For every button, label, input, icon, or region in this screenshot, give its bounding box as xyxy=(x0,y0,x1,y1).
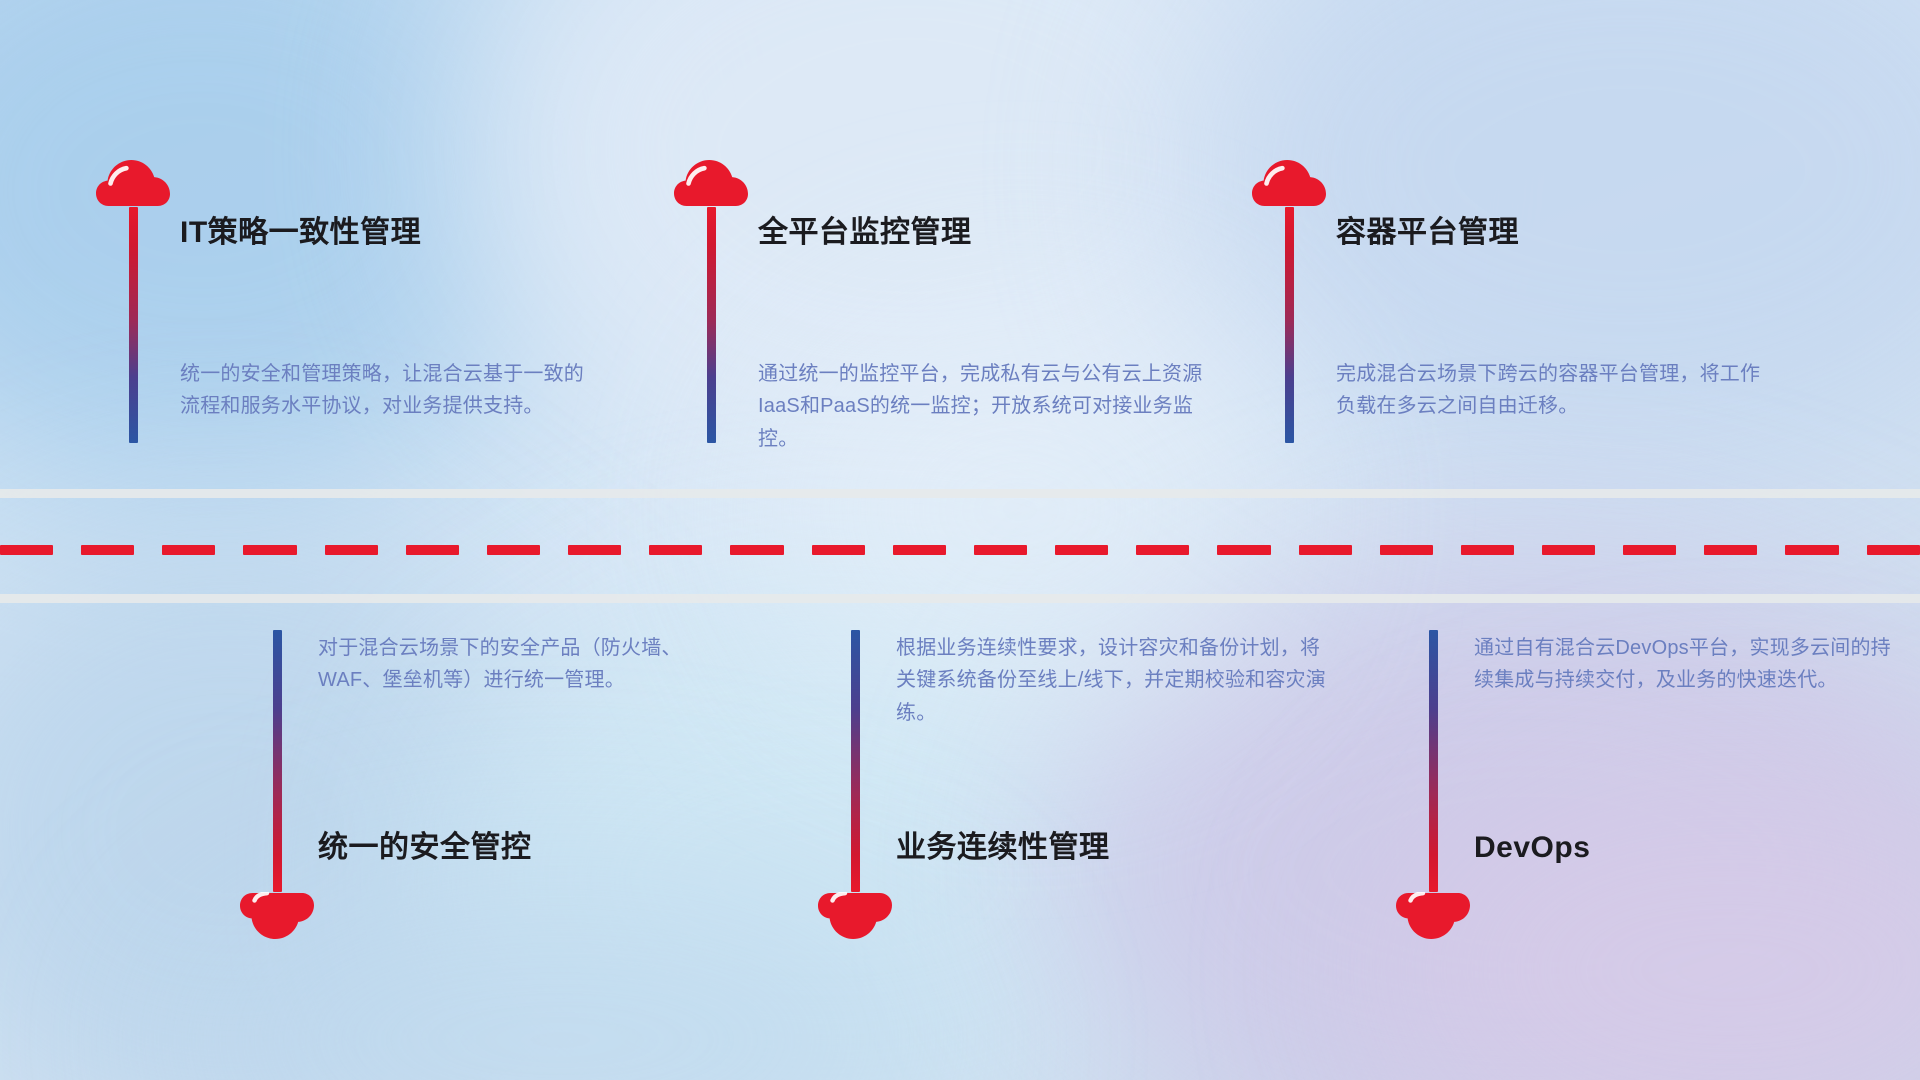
item-title: 全平台监控管理 xyxy=(758,215,972,251)
divider-rule-bottom xyxy=(0,594,1920,603)
cloud-pin-icon xyxy=(1396,892,1470,939)
cloud-pin-top-1 xyxy=(96,160,170,443)
cloud-pin-bottom-2 xyxy=(818,630,892,939)
cloud-pin-icon xyxy=(96,160,170,207)
cloud-pin-icon xyxy=(240,892,314,939)
item-body: 通过自有混合云DevOps平台，实现多云间的持续集成与持续交付，及业务的快速迭代… xyxy=(1474,632,1894,697)
divider-dash xyxy=(649,545,702,555)
divider-dash xyxy=(0,545,53,555)
divider-dash xyxy=(974,545,1027,555)
item-body: 统一的安全和管理策略，让混合云基于一致的流程和服务水平协议，对业务提供支持。 xyxy=(180,358,600,423)
cloud-pin-icon xyxy=(674,160,748,207)
item-title: IT策略一致性管理 xyxy=(180,215,421,251)
divider-dash xyxy=(1542,545,1595,555)
infographic-canvas: IT策略一致性管理 统一的安全和管理策略，让混合云基于一致的流程和服务水平协议，… xyxy=(0,0,1920,1080)
divider-dash xyxy=(487,545,540,555)
item-title: 容器平台管理 xyxy=(1336,215,1519,251)
divider-dash xyxy=(1867,545,1920,555)
divider-dash xyxy=(1055,545,1108,555)
divider-dash xyxy=(243,545,296,555)
divider-dash xyxy=(81,545,134,555)
divider-dash xyxy=(730,545,783,555)
divider-dash xyxy=(1380,545,1433,555)
divider-dash xyxy=(812,545,865,555)
cloud-pin-top-2 xyxy=(674,160,748,443)
divider-dash xyxy=(1704,545,1757,555)
divider-dash xyxy=(1623,545,1676,555)
divider-rule-top xyxy=(0,489,1920,498)
cloud-pin-bottom-3 xyxy=(1396,630,1470,939)
divider-dash xyxy=(1461,545,1514,555)
divider-dash xyxy=(1785,545,1838,555)
divider-dash xyxy=(1217,545,1270,555)
item-title: DevOps xyxy=(1474,830,1590,866)
item-body: 完成混合云场景下跨云的容器平台管理，将工作负载在多云之间自由迁移。 xyxy=(1336,358,1776,423)
divider-dash xyxy=(1136,545,1189,555)
divider-dash xyxy=(162,545,215,555)
divider-dash xyxy=(406,545,459,555)
divider-dash xyxy=(325,545,378,555)
item-title: 业务连续性管理 xyxy=(896,830,1110,866)
divider-dash xyxy=(568,545,621,555)
item-body: 通过统一的监控平台，完成私有云与公有云上资源IaaS和PaaS的统一监控；开放系… xyxy=(758,358,1228,455)
cloud-pin-bottom-1 xyxy=(240,630,314,939)
divider-dashed-line xyxy=(0,545,1920,555)
cloud-pin-top-3 xyxy=(1252,160,1326,443)
cloud-pin-icon xyxy=(818,892,892,939)
cloud-pin-icon xyxy=(1252,160,1326,207)
divider-dash xyxy=(893,545,946,555)
item-body: 根据业务连续性要求，设计容灾和备份计划，将关键系统备份至线上/线下，并定期校验和… xyxy=(896,632,1326,729)
item-body: 对于混合云场景下的安全产品（防火墙、WAF、堡垒机等）进行统一管理。 xyxy=(318,632,738,697)
item-title: 统一的安全管控 xyxy=(318,830,532,866)
divider-dash xyxy=(1299,545,1352,555)
